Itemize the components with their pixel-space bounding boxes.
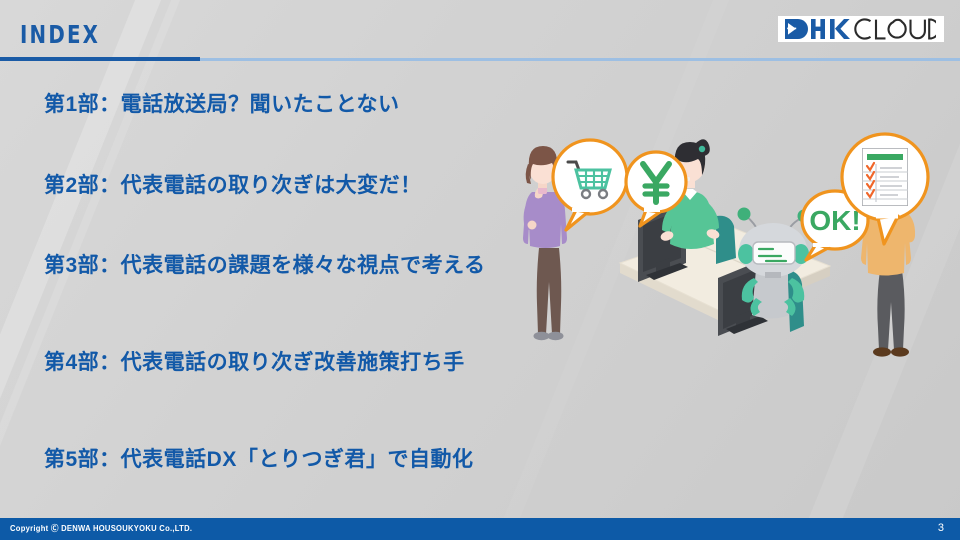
slide-footer: Copyright Ⓒ DENWA HOUSOUKYOKU Co.,LTD. 3: [0, 518, 960, 540]
ok-bubble-text: OK!: [809, 205, 860, 236]
page-title: INDEX: [20, 20, 100, 49]
index-item-4[interactable]: 第4部：代表電話の取り次ぎ改善施策打ち手: [44, 351, 604, 374]
brand-logo: [778, 16, 944, 42]
index-item-1[interactable]: 第1部：電話放送局？聞いたことない: [44, 93, 604, 116]
index-item-2[interactable]: 第2部：代表電話の取り次ぎは大変だ！: [44, 174, 604, 197]
index-item-3[interactable]: 第3部：代表電話の課題を様々な視点で考える: [44, 254, 604, 277]
copyright-text: Copyright Ⓒ DENWA HOUSOUKYOKU Co.,LTD.: [10, 523, 192, 534]
index-item-5[interactable]: 第5部：代表電話DX「とりつぎ君」で自動化: [44, 448, 604, 471]
header-rule-light: [200, 58, 960, 61]
header-rule-dark: [0, 57, 200, 61]
dhk-cloud-logo-icon: [784, 18, 936, 40]
page-number: 3: [938, 522, 944, 534]
checklist-icon: [862, 148, 908, 206]
